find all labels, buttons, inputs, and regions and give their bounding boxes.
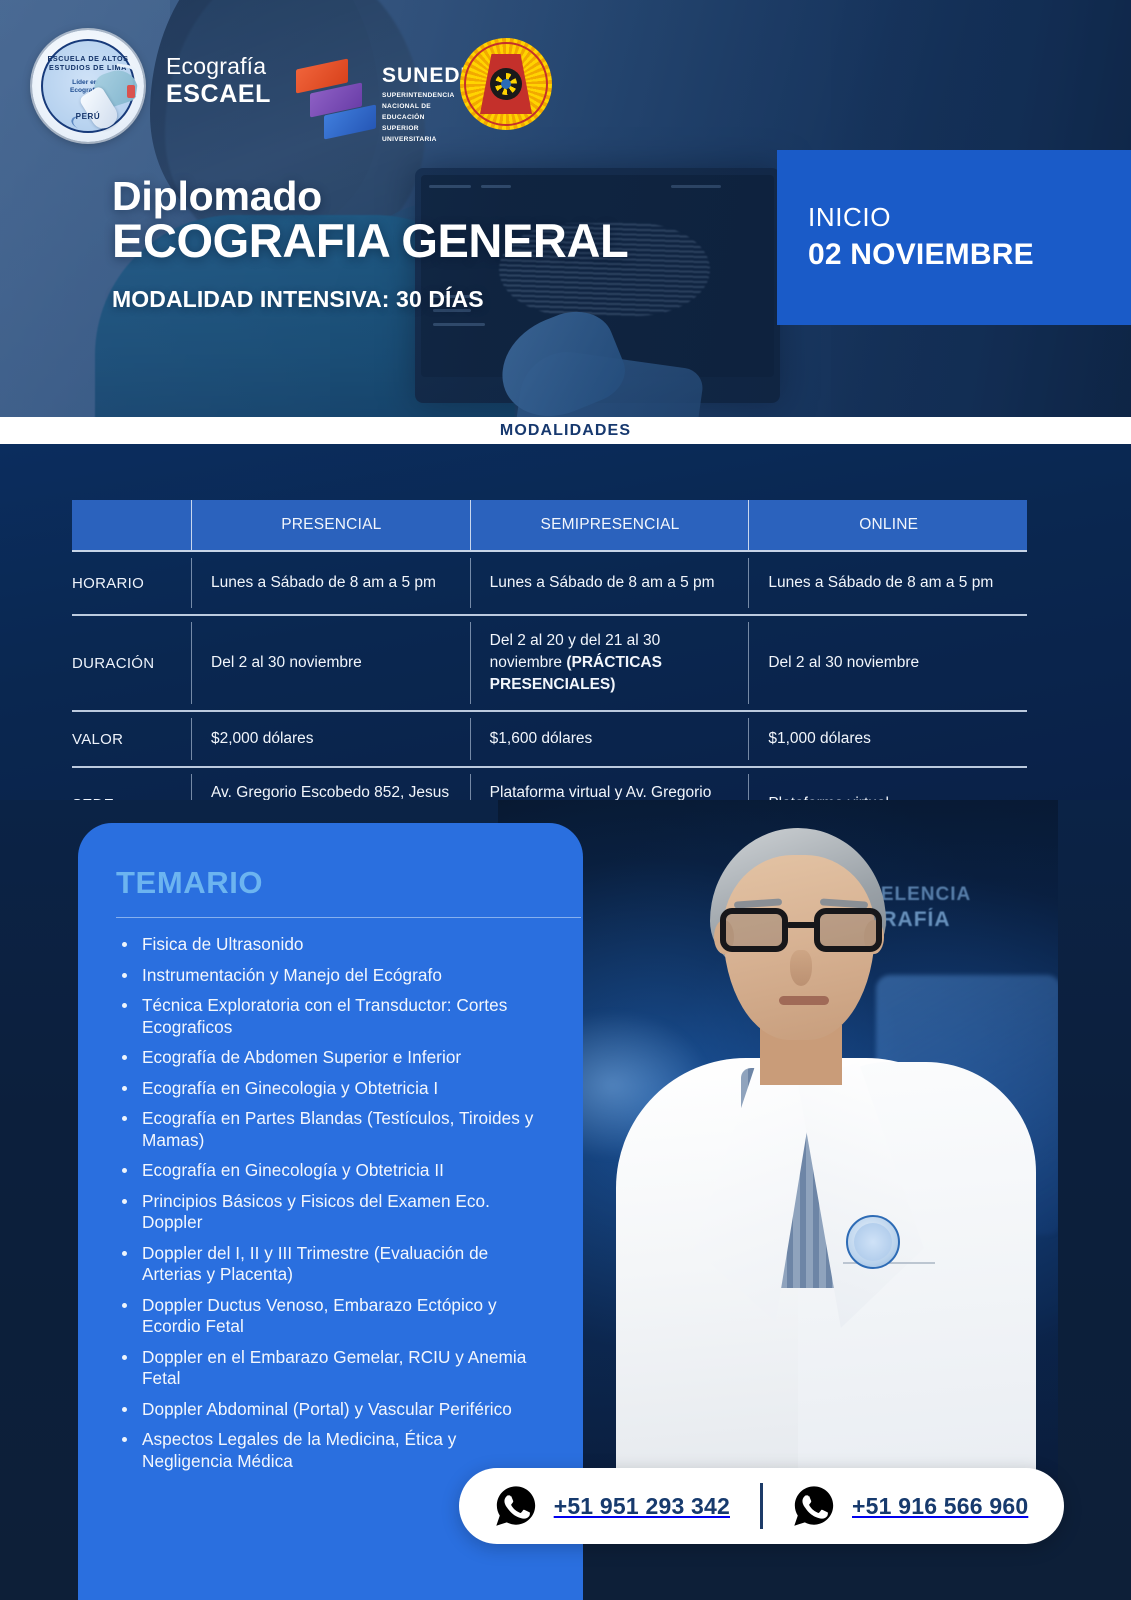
table-header-presencial: PRESENCIAL — [191, 500, 470, 550]
seal-core-icon — [501, 79, 511, 89]
sunedu-sub-line2: NACIONAL DE EDUCACIÓN — [382, 102, 455, 124]
list-item: Ecografía en Ginecología y Obtetricia II — [116, 1160, 545, 1182]
glasses-icon — [720, 908, 882, 954]
list-item: Doppler Ductus Venoso, Embarazo Ectópico… — [116, 1295, 545, 1338]
inicio-date-badge: INICIO 02 NOVIEMBRE — [777, 150, 1131, 325]
column-divider — [191, 718, 192, 760]
brand-escael: ESCAEL — [166, 80, 271, 108]
table-row: DURACIÓN Del 2 al 30 noviembre Del 2 al … — [72, 616, 1027, 712]
cell-valor-online: $1,000 dólares — [748, 712, 1027, 766]
escael-seal-arc-bottom: PERÚ — [43, 112, 133, 121]
cell-text: Del 2 al 30 noviembre — [211, 652, 362, 674]
modalidades-table: PRESENCIAL SEMIPRESENCIAL ONLINE HORARIO… — [72, 500, 1027, 842]
page-title: ECOGRAFIA GENERAL — [112, 216, 628, 267]
hero-subtitle: MODALIDAD INTENSIVA: 30 DÍAS — [112, 286, 628, 313]
cell-text: $1,600 dólares — [490, 728, 593, 750]
universidad-nacional-seal-logo — [460, 38, 552, 130]
cell-duracion-semipresencial: Del 2 al 20 y del 21 al 30 noviembre (PR… — [470, 616, 749, 710]
probe-accent-icon — [127, 85, 135, 98]
table-row: VALOR $2,000 dólares $1,600 dólares $1,0… — [72, 712, 1027, 768]
cell-text: $2,000 dólares — [211, 728, 314, 750]
cell-duracion-online: Del 2 al 30 noviembre — [748, 616, 1027, 710]
modalidades-section: PRESENCIAL SEMIPRESENCIAL ONLINE HORARIO… — [0, 444, 1131, 800]
row-label-horario: HORARIO — [72, 552, 191, 614]
column-divider — [470, 718, 471, 760]
column-divider — [191, 500, 192, 550]
cell-text: Lunes a Sábado de 8 am a 5 pm — [490, 572, 715, 594]
cell-horario-semipresencial: Lunes a Sábado de 8 am a 5 pm — [470, 552, 749, 614]
sunedu-sub-line3: SUPERIOR UNIVERSITARIA — [382, 124, 455, 146]
hero-banner: ESCUELA DE ALTOS ESTUDIOS DE LIMA Líder … — [0, 0, 1131, 417]
column-divider — [470, 622, 471, 704]
instructor-badge-inner — [854, 1223, 892, 1261]
column-divider — [748, 622, 749, 704]
instructor-nose — [790, 950, 812, 986]
temario-title: TEMARIO — [116, 865, 545, 901]
list-item: Doppler del I, II y III Trimestre (Evalu… — [116, 1243, 545, 1286]
glasses-lens-left — [720, 908, 788, 952]
cell-horario-online: Lunes a Sábado de 8 am a 5 pm — [748, 552, 1027, 614]
cell-valor-semipresencial: $1,600 dólares — [470, 712, 749, 766]
row-label-valor: VALOR — [72, 712, 191, 766]
table-header-semipresencial-label: SEMIPRESENCIAL — [541, 516, 680, 533]
table-row: HORARIO Lunes a Sábado de 8 am a 5 pm Lu… — [72, 552, 1027, 616]
list-item: Doppler en el Embarazo Gemelar, RCIU y A… — [116, 1347, 545, 1390]
table-header-semipresencial: SEMIPRESENCIAL — [470, 500, 749, 550]
brand-ecografia: Ecografía — [166, 54, 271, 80]
cell-valor-presencial: $2,000 dólares — [191, 712, 470, 766]
whatsapp-contact-2[interactable]: +51 916 566 960 — [763, 1485, 1058, 1527]
whatsapp-contact-1[interactable]: +51 951 293 342 — [465, 1485, 760, 1527]
escael-seal-logo: ESCUELA DE ALTOS ESTUDIOS DE LIMA Líder … — [32, 30, 144, 142]
column-divider — [470, 558, 471, 608]
list-item: Ecografía de Abdomen Superior e Inferior — [116, 1047, 545, 1069]
table-header-row: PRESENCIAL SEMIPRESENCIAL ONLINE — [72, 500, 1027, 552]
hero-headline: Diplomado ECOGRAFIA GENERAL MODALIDAD IN… — [112, 175, 628, 313]
instructor-mouth — [779, 996, 829, 1005]
phone-number-1: +51 951 293 342 — [554, 1493, 730, 1520]
modalidades-band-label: MODALIDADES — [500, 422, 631, 440]
list-item: Fisica de Ultrasonido — [116, 934, 545, 956]
table-header-online: ONLINE — [748, 500, 1027, 550]
cell-text: Lunes a Sábado de 8 am a 5 pm — [768, 572, 993, 594]
cell-text: Lunes a Sábado de 8 am a 5 pm — [211, 572, 436, 594]
instructor-coat-pocket — [843, 1262, 935, 1330]
instructor-badge-icon — [846, 1215, 900, 1269]
inicio-label: INICIO — [808, 203, 1131, 232]
escael-brand-text: Ecografía ESCAEL — [166, 54, 271, 108]
glasses-lens-right — [814, 908, 882, 952]
list-item: Ecografía en Ginecologia y Obtetricia I — [116, 1078, 545, 1100]
list-item: Instrumentación y Manejo del Ecógrafo — [116, 965, 545, 987]
list-item: Doppler Abdominal (Portal) y Vascular Pe… — [116, 1399, 545, 1421]
column-divider — [748, 500, 749, 550]
cell-horario-presencial: Lunes a Sábado de 8 am a 5 pm — [191, 552, 470, 614]
sunedu-sub-line1: SUPERINTENDENCIA — [382, 91, 455, 102]
whatsapp-icon — [793, 1485, 835, 1527]
column-divider — [470, 500, 471, 550]
sunedu-logo: SUNEDU SUPERINTENDENCIA NACIONAL DE EDUC… — [296, 58, 441, 136]
row-label-duracion: DURACIÓN — [72, 616, 191, 710]
escael-seal-ring: ESCUELA DE ALTOS ESTUDIOS DE LIMA Líder … — [41, 39, 135, 133]
table-header-presencial-label: PRESENCIAL — [281, 516, 381, 533]
contact-bar: +51 951 293 342 +51 916 566 960 — [459, 1468, 1064, 1544]
cell-text: Del 2 al 30 noviembre — [768, 652, 919, 674]
cell-duracion-presencial: Del 2 al 30 noviembre — [191, 616, 470, 710]
sunedu-subtitle: SUPERINTENDENCIA NACIONAL DE EDUCACIÓN S… — [382, 91, 455, 145]
column-divider — [748, 718, 749, 760]
logo-row: ESCUELA DE ALTOS ESTUDIOS DE LIMA Líder … — [0, 0, 1131, 150]
list-item: Técnica Exploratoria con el Transductor:… — [116, 995, 545, 1038]
phone-number-2: +51 916 566 960 — [852, 1493, 1028, 1520]
cell-text: $1,000 dólares — [768, 728, 871, 750]
column-divider — [748, 558, 749, 608]
flyer-page: ESCUELA DE ALTOS ESTUDIOS DE LIMA Líder … — [0, 0, 1131, 1600]
column-divider — [191, 558, 192, 608]
hero-eyebrow: Diplomado — [112, 175, 628, 218]
list-item: Ecografía en Partes Blandas (Testículos,… — [116, 1108, 545, 1151]
list-item: Aspectos Legales de la Medicina, Ética y… — [116, 1429, 545, 1472]
temario-divider — [116, 917, 581, 918]
list-item: Principios Básicos y Fisicos del Examen … — [116, 1191, 545, 1234]
temario-list: Fisica de Ultrasonido Instrumentación y … — [116, 934, 545, 1472]
inicio-date: 02 NOVIEMBRE — [808, 238, 1131, 272]
cell-text: Del 2 al 20 y del 21 al 30 noviembre (PR… — [490, 630, 731, 696]
column-divider — [191, 622, 192, 704]
table-header-online-label: ONLINE — [859, 516, 918, 533]
whatsapp-icon — [495, 1485, 537, 1527]
modalidades-band: MODALIDADES — [0, 417, 1131, 444]
table-header-blank — [72, 500, 191, 550]
